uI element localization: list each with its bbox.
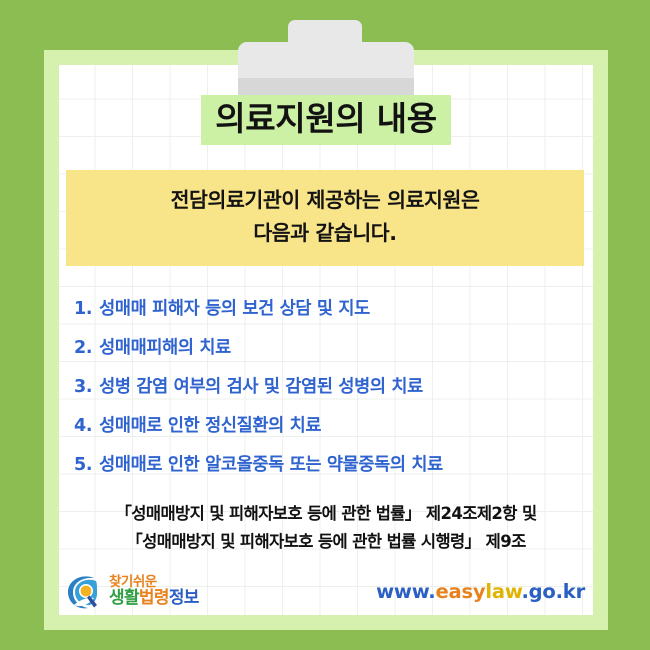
list-item-label: 성매매로 인한 정신질환의 치료 [99,407,321,446]
content-list: 1. 성매매 피해자 등의 보건 상담 및 지도 2. 성매매피해의 치료 3.… [74,290,594,485]
url-part-www: www. [376,580,435,603]
law-citation: 「성매매방지 및 피해자보호 등에 관한 법률」 제24조제2항 및 「성매매방… [59,500,593,557]
footer-bar: 찾기쉬운 생활법령정보 www.easylaw.go.kr [59,568,593,615]
list-item-label: 성병 감염 여부의 검사 및 감염된 성병의 치료 [99,368,423,407]
list-item: 4. 성매매로 인한 정신질환의 치료 [74,407,594,446]
url-part-tld: .go.kr [521,580,585,603]
list-item-index: 4. [74,407,92,446]
page-title: 의료지원의 내용 [201,95,451,145]
brand-char-3: 법 [139,588,154,608]
list-item-index: 5. [74,446,92,485]
list-item-index: 3. [74,368,92,407]
list-item: 5. 성매매로 인한 알코올중독 또는 약물중독의 치료 [74,446,594,485]
list-item-label: 성매매로 인한 알코올중독 또는 약물중독의 치료 [99,446,443,485]
title-row: 의료지원의 내용 [59,95,593,145]
brand-char-1: 생 [109,588,124,608]
list-item-index: 1. [74,290,92,329]
brand-text: 찾기쉬운 생활법령정보 [109,575,199,608]
list-item: 3. 성병 감염 여부의 검사 및 감염된 성병의 치료 [74,368,594,407]
brand-name: 생활법령정보 [109,590,199,608]
summary-callout-box: 전담의료기관이 제공하는 의료지원은 다음과 같습니다. [66,170,584,266]
brand-char-5: 정 [169,588,184,608]
brand-char-6: 보 [184,588,199,608]
summary-line-2: 다음과 같습니다. [76,217,574,250]
brand-logo[interactable]: 찾기쉬운 생활법령정보 [64,572,199,612]
list-item-label: 성매매피해의 치료 [99,329,231,368]
brand-char-4: 령 [154,588,169,608]
brand-char-2: 활 [124,588,139,608]
magnifier-swirl-logo-icon [64,572,104,612]
list-item: 2. 성매매피해의 치료 [74,329,594,368]
citation-line-1: 「성매매방지 및 피해자보호 등에 관한 법률」 제24조제2항 및 [59,500,593,528]
summary-line-1: 전담의료기관이 제공하는 의료지원은 [76,184,574,217]
list-item-label: 성매매 피해자 등의 보건 상담 및 지도 [99,290,370,329]
site-url[interactable]: www.easylaw.go.kr [376,580,585,603]
url-part-easy: easy [436,580,486,603]
list-item: 1. 성매매 피해자 등의 보건 상담 및 지도 [74,290,594,329]
list-item-index: 2. [74,329,92,368]
citation-line-2: 「성매매방지 및 피해자보호 등에 관한 법률 시행령」 제9조 [59,528,593,556]
url-part-law: law [485,580,521,603]
